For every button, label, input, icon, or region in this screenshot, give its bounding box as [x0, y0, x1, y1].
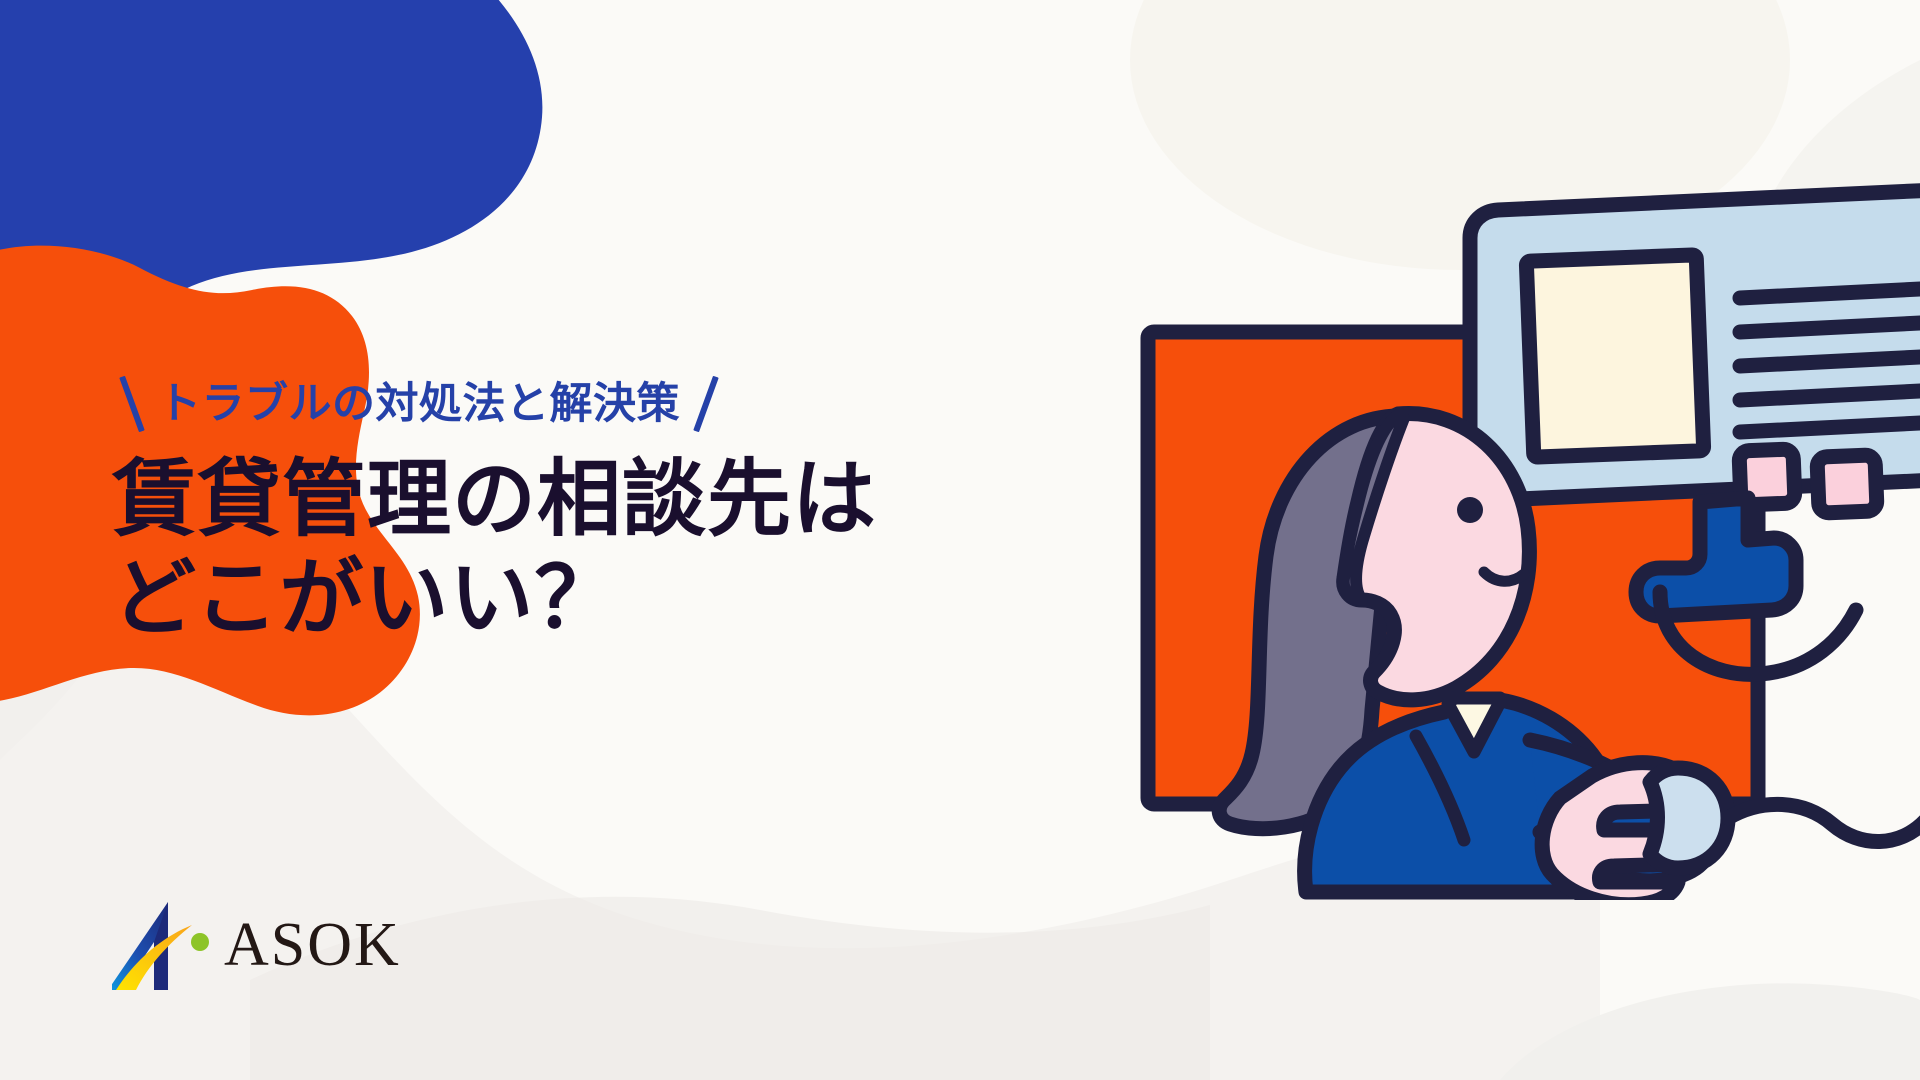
subtitle-row: トラブルの対処法と解決策: [112, 370, 1072, 438]
eye: [1457, 497, 1483, 523]
asok-logo[interactable]: ASOK: [112, 898, 401, 992]
subtitle-text: トラブルの対処法と解決策: [152, 383, 686, 426]
headline-block: トラブルの対処法と解決策 賃貸管理の相談先は どこがいい？: [112, 370, 1072, 648]
asok-logo-mark: [112, 898, 196, 992]
title-line-2: どこがいい？: [112, 549, 1072, 648]
mouse-cable: [1728, 804, 1920, 841]
hero-banner: トラブルの対処法と解決策 賃貸管理の相談先は どこがいい？: [0, 0, 1920, 1080]
slash-right-icon: [686, 373, 726, 435]
monitor-button-2: [1817, 455, 1877, 513]
illustration-woman-at-computer: [1100, 180, 1920, 900]
asok-wordmark: ASOK: [224, 914, 401, 976]
monitor-content-block: [1526, 255, 1703, 457]
mouse: [1650, 768, 1728, 868]
slash-left-icon: [112, 373, 152, 435]
title-line-1: 賃貸管理の相談先は: [112, 450, 1072, 549]
asok-logo-dot-icon: [190, 932, 210, 952]
